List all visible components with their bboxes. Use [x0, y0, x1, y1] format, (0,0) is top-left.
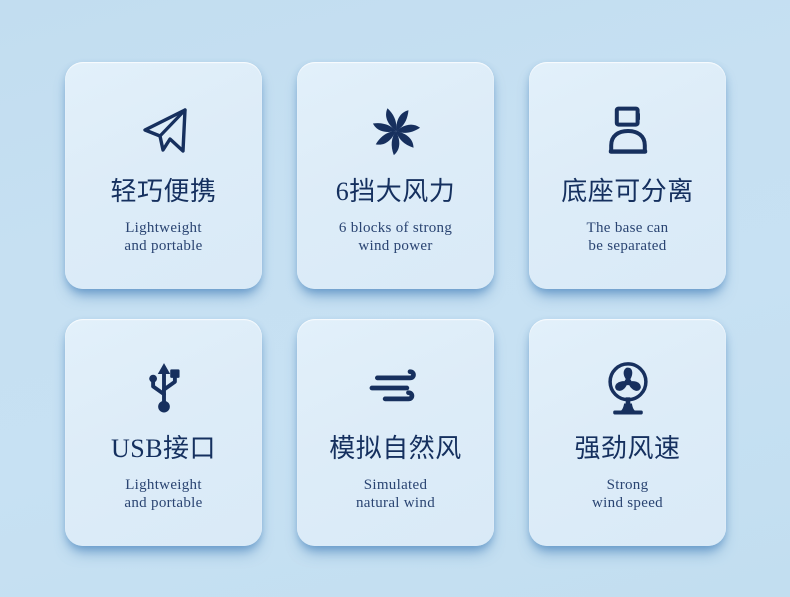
card-title: 模拟自然风: [329, 435, 462, 464]
card-subtitle-line-1: 6 blocks of strong: [339, 219, 452, 237]
card-subtitle-line-2: wind speed: [592, 494, 663, 512]
card-title: USB接口: [111, 435, 216, 464]
usb-icon: [142, 359, 186, 417]
feature-card-lightweight[interactable]: 轻巧便携 Lightweight and portable: [65, 62, 262, 289]
card-title: 强劲风速: [574, 435, 680, 464]
feature-card-natural-wind[interactable]: 模拟自然风 Simulated natural wind: [297, 319, 494, 546]
card-title: 底座可分离: [561, 178, 694, 207]
wind-lines-icon: [368, 359, 424, 417]
feature-card-wind-speed[interactable]: 强劲风速 Strong wind speed: [529, 319, 726, 546]
pedestal-fan-icon: [603, 359, 653, 417]
card-subtitle: 6 blocks of strong wind power: [339, 219, 452, 256]
card-subtitle: The base can be separated: [587, 219, 669, 256]
feature-card-detachable-base[interactable]: 底座可分离 The base can be separated: [529, 62, 726, 289]
card-subtitle-line-2: and portable: [124, 494, 202, 512]
card-subtitle: Simulated natural wind: [356, 476, 435, 513]
detachable-base-icon: [604, 102, 652, 160]
card-subtitle-line-1: Strong: [592, 476, 663, 494]
card-subtitle-line-1: Simulated: [356, 476, 435, 494]
feature-card-usb[interactable]: USB接口 Lightweight and portable: [65, 319, 262, 546]
feature-card-wind-power[interactable]: 6挡大风力 6 blocks of strong wind power: [297, 62, 494, 289]
card-subtitle: Lightweight and portable: [124, 219, 202, 256]
card-subtitle-line-2: natural wind: [356, 494, 435, 512]
card-subtitle-line-1: The base can: [587, 219, 669, 237]
card-subtitle-line-2: wind power: [339, 237, 452, 255]
card-title: 6挡大风力: [336, 178, 456, 207]
card-subtitle-line-2: be separated: [587, 237, 669, 255]
card-subtitle-line-1: Lightweight: [124, 476, 202, 494]
card-title: 轻巧便携: [110, 178, 216, 207]
fan-blades-pinwheel-icon: [370, 102, 422, 160]
feature-card-grid: 轻巧便携 Lightweight and portable: [65, 62, 727, 546]
card-subtitle: Strong wind speed: [592, 476, 663, 513]
card-subtitle-line-1: Lightweight: [124, 219, 202, 237]
paper-plane-icon: [137, 102, 191, 160]
card-subtitle-line-2: and portable: [124, 237, 202, 255]
card-subtitle: Lightweight and portable: [124, 476, 202, 513]
